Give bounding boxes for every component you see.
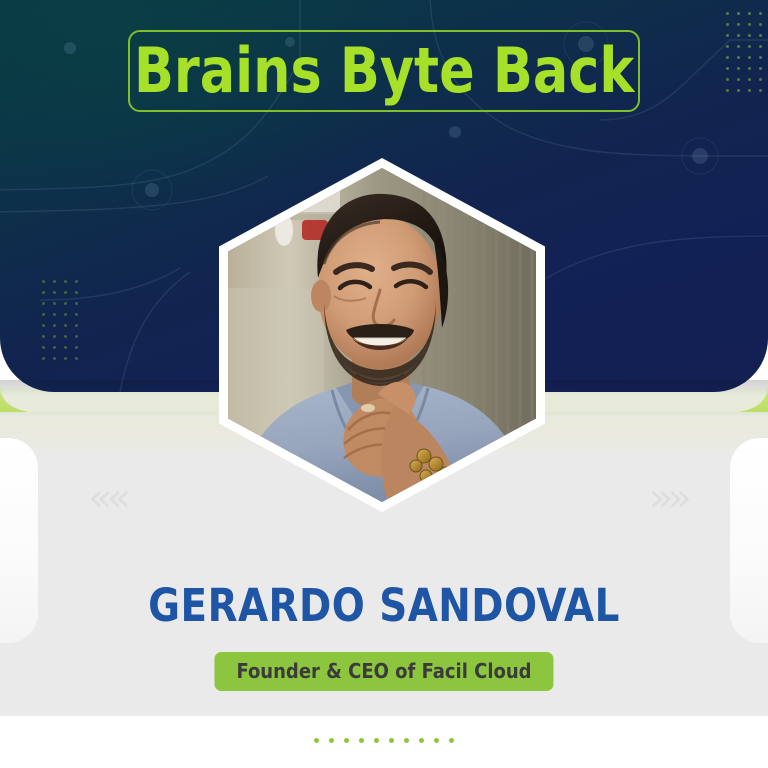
guest-announcement-card: «« »» Brains Byte Back — [0, 0, 768, 768]
chevron-right-icon: »» — [649, 478, 686, 518]
guest-photo-hexagon — [219, 158, 545, 512]
dot-divider-decoration — [314, 738, 454, 743]
show-title-box: Brains Byte Back — [128, 30, 640, 112]
chevron-left-icon: «« — [88, 478, 125, 518]
show-title: Brains Byte Back — [134, 40, 634, 102]
guest-name: GERARDO SANDOVAL — [15, 583, 752, 628]
guest-role-badge: Founder & CEO of Facil Cloud — [214, 652, 553, 691]
